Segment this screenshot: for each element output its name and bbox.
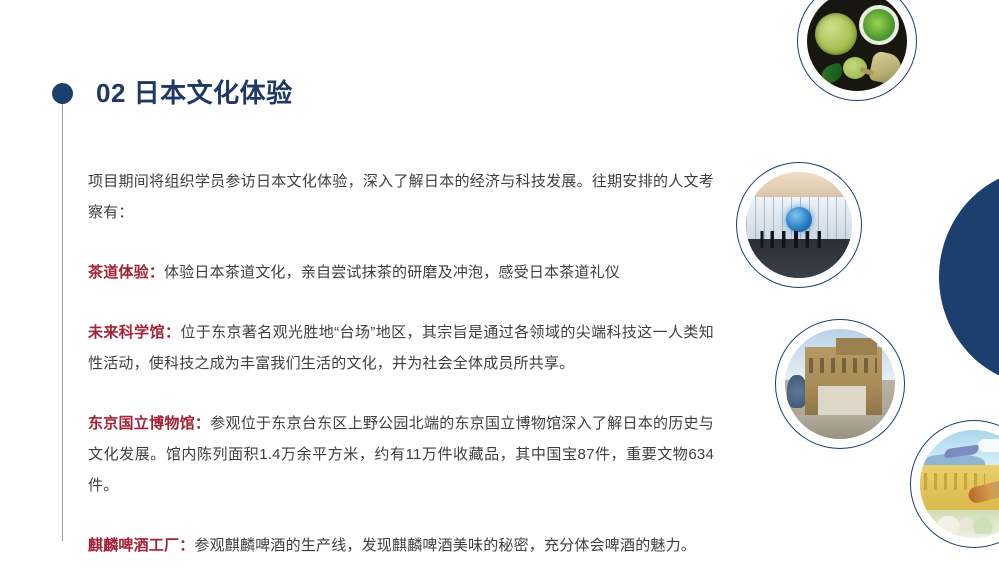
item-colon: ：: [149, 264, 164, 281]
item-label-science-museum: 未来科学馆: [88, 324, 165, 341]
navy-circle-decoration: [939, 168, 999, 386]
photo-inner: [807, 0, 907, 91]
visitor-silhouettes: [757, 231, 842, 248]
list-item: 茶道体验：体验日本茶道文化，亲自尝试抹茶的研磨及冲泡，感受日本茶道礼仪: [88, 257, 714, 288]
intro-paragraph: 项目期间将组织学员参访日本文化体验，深入了解日本的经济与科技发展。往期安排的人文…: [88, 166, 714, 228]
slide-japan-culture-experience: 02 日本文化体验 项目期间将组织学员参访日本文化体验，深入了解日本的经济与科技…: [0, 0, 999, 588]
bullet-circle-icon: [52, 83, 73, 104]
list-item: 东京国立博物馆：参观位于东京台东区上野公园北端的东京国立博物馆深入了解日本的历史…: [88, 408, 714, 501]
item-colon: ：: [165, 324, 180, 341]
science-museum-photo-art: [746, 172, 852, 278]
bamboo-whisk-icon: [868, 50, 904, 86]
content-body: 项目期间将组织学员参访日本文化体验，深入了解日本的经济与科技发展。往期安排的人文…: [88, 166, 714, 561]
item-label-kirin-brewery: 麒麟啤酒工厂: [88, 537, 179, 554]
photo-inner: [920, 430, 999, 538]
matcha-photo-art: [807, 0, 907, 91]
item-body-tea-ceremony: 体验日本茶道文化，亲自尝试抹茶的研磨及冲泡，感受日本茶道礼仪: [164, 264, 620, 281]
photo-circle-science-museum: [737, 163, 861, 287]
cloud: [978, 439, 999, 452]
matcha-spoon: [843, 57, 867, 79]
item-body-science-museum: 位于东京著名观光胜地“台场”地区，其宗旨是通过各领域的尖端科技这一人类知性活动，…: [88, 324, 714, 372]
item-label-national-museum: 东京国立博物馆: [88, 415, 195, 432]
museum-windows: [809, 358, 877, 373]
museum-plaza: [785, 415, 895, 439]
matcha-powder-bowl: [815, 13, 857, 55]
museum-ceiling: [746, 172, 852, 201]
title-pin-line: [62, 101, 63, 541]
stones: [937, 516, 993, 533]
photo-circle-brewery: [911, 421, 999, 547]
list-item: 麒麟啤酒工厂：参观麒麟啤酒的生产线，发现麒麟啤酒美味的秘密，充分体会啤酒的魅力。: [88, 530, 714, 561]
item-colon: ：: [195, 415, 210, 432]
geo-cosmos-globe: [786, 207, 811, 232]
page-title: 02 日本文化体验: [52, 80, 293, 106]
museum-roof-block: [836, 338, 878, 356]
item-body-kirin-brewery: 参观麒麟啤酒的生产线，发现麒麟啤酒美味的秘密，充分体会啤酒的魅力。: [194, 537, 696, 554]
item-label-tea-ceremony: 茶道体验: [88, 264, 149, 281]
photo-inner: [746, 172, 852, 278]
national-museum-photo-art: [785, 329, 895, 439]
matcha-tea-cup: [859, 5, 899, 45]
museum-columns: [820, 391, 864, 417]
photo-inner: [785, 329, 895, 439]
brewery-photo-art: [920, 430, 999, 538]
tea-leaf: [819, 62, 845, 85]
page-title-text: 02 日本文化体验: [96, 80, 293, 106]
photo-circle-national-museum: [776, 320, 904, 448]
list-item: 未来科学馆：位于东京著名观光胜地“台场”地区，其宗旨是通过各领域的尖端科技这一人…: [88, 317, 714, 379]
item-colon: ：: [179, 537, 194, 554]
photo-circle-matcha: [798, 0, 916, 100]
